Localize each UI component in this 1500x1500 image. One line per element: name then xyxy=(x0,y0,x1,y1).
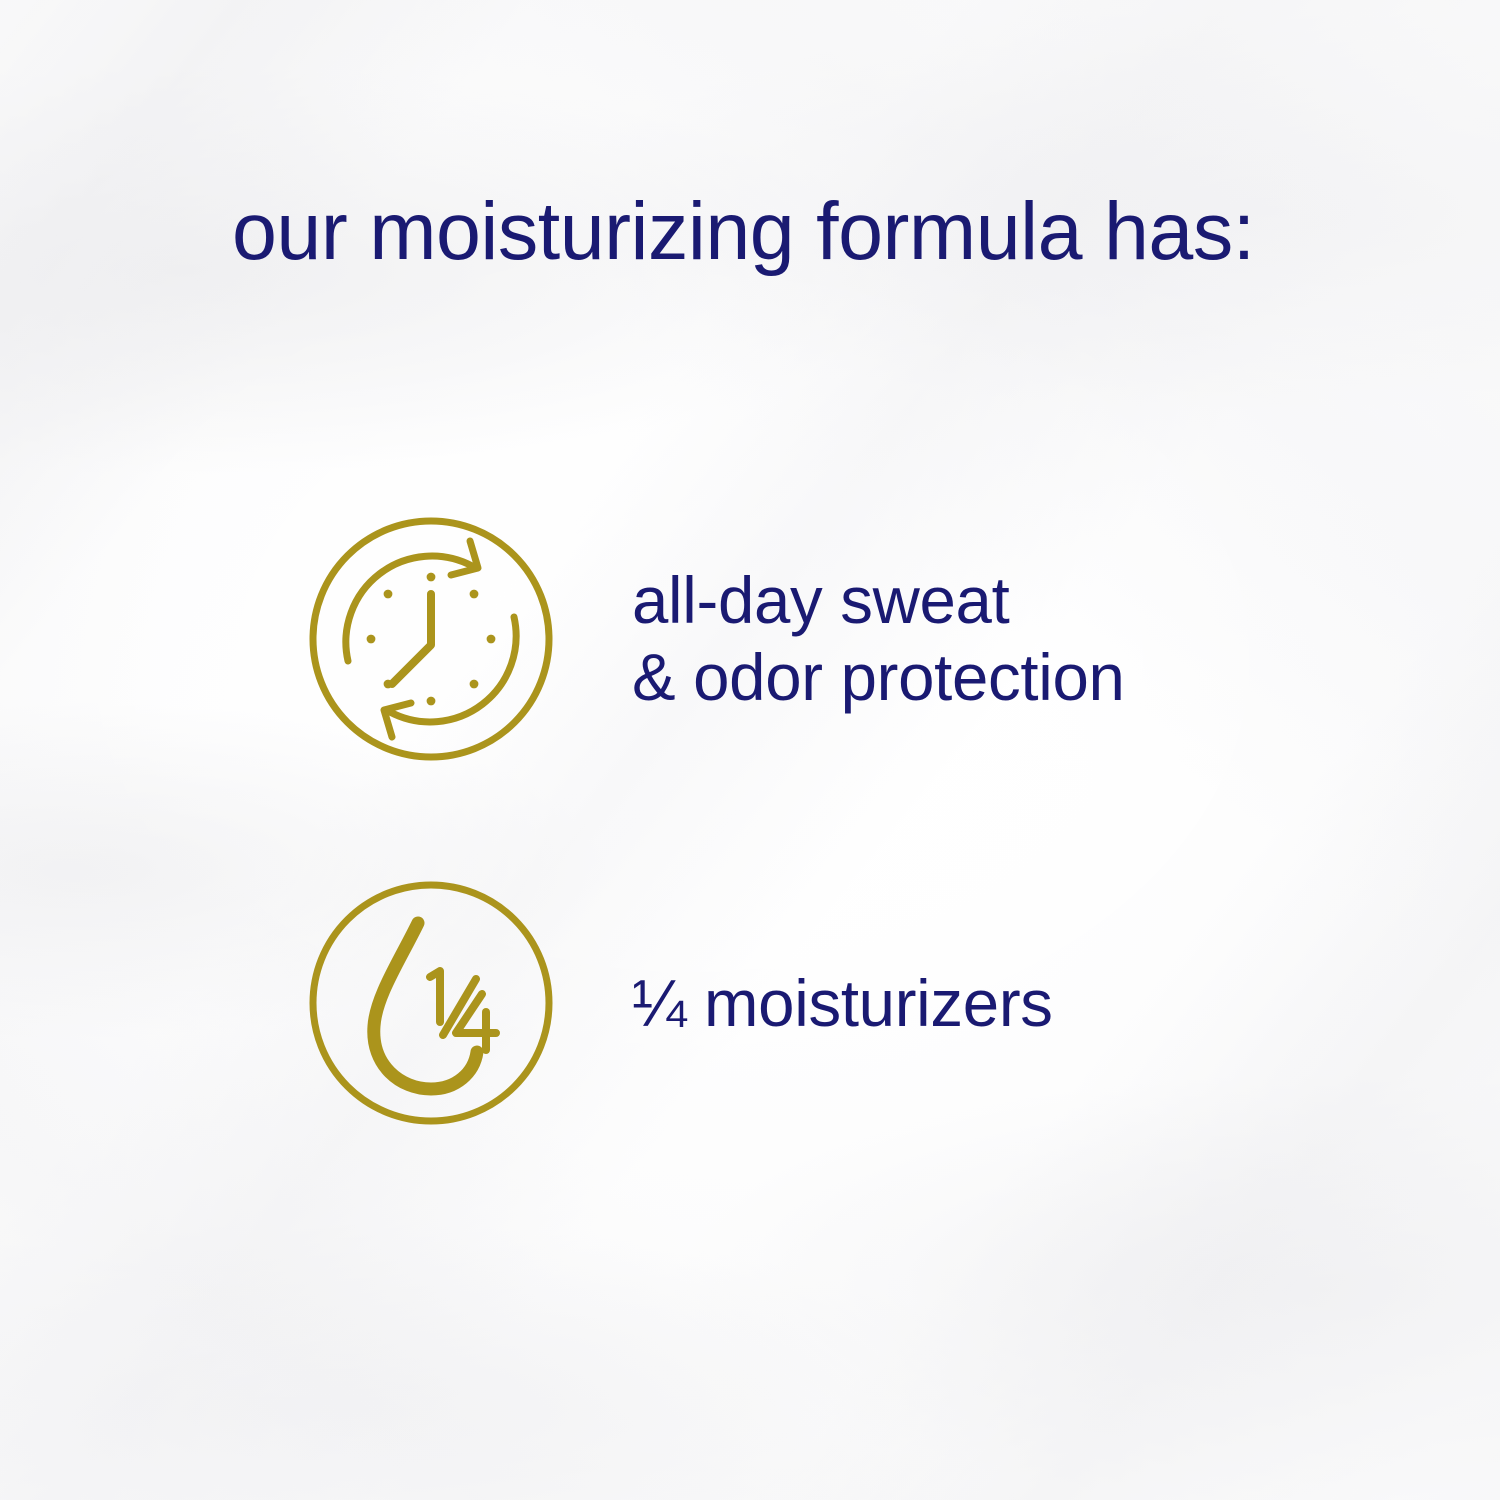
benefit-label-all-day-protection: all-day sweat & odor protection xyxy=(632,562,1125,715)
benefit-item-quarter-moisturizers: ¼ moisturizers xyxy=(300,872,1057,1134)
product-benefits-panel: our moisturizing formula has: xyxy=(0,0,1500,1500)
clock-refresh-icon xyxy=(300,508,562,770)
droplet-quarter-icon xyxy=(300,872,562,1134)
page-title: our moisturizing formula has: xyxy=(232,191,1255,273)
benefit-item-all-day-protection: all-day sweat & odor protection xyxy=(300,508,1130,770)
benefit-label-quarter-moisturizers: ¼ moisturizers xyxy=(632,965,1053,1042)
content-container: our moisturizing formula has: xyxy=(0,0,1500,1500)
